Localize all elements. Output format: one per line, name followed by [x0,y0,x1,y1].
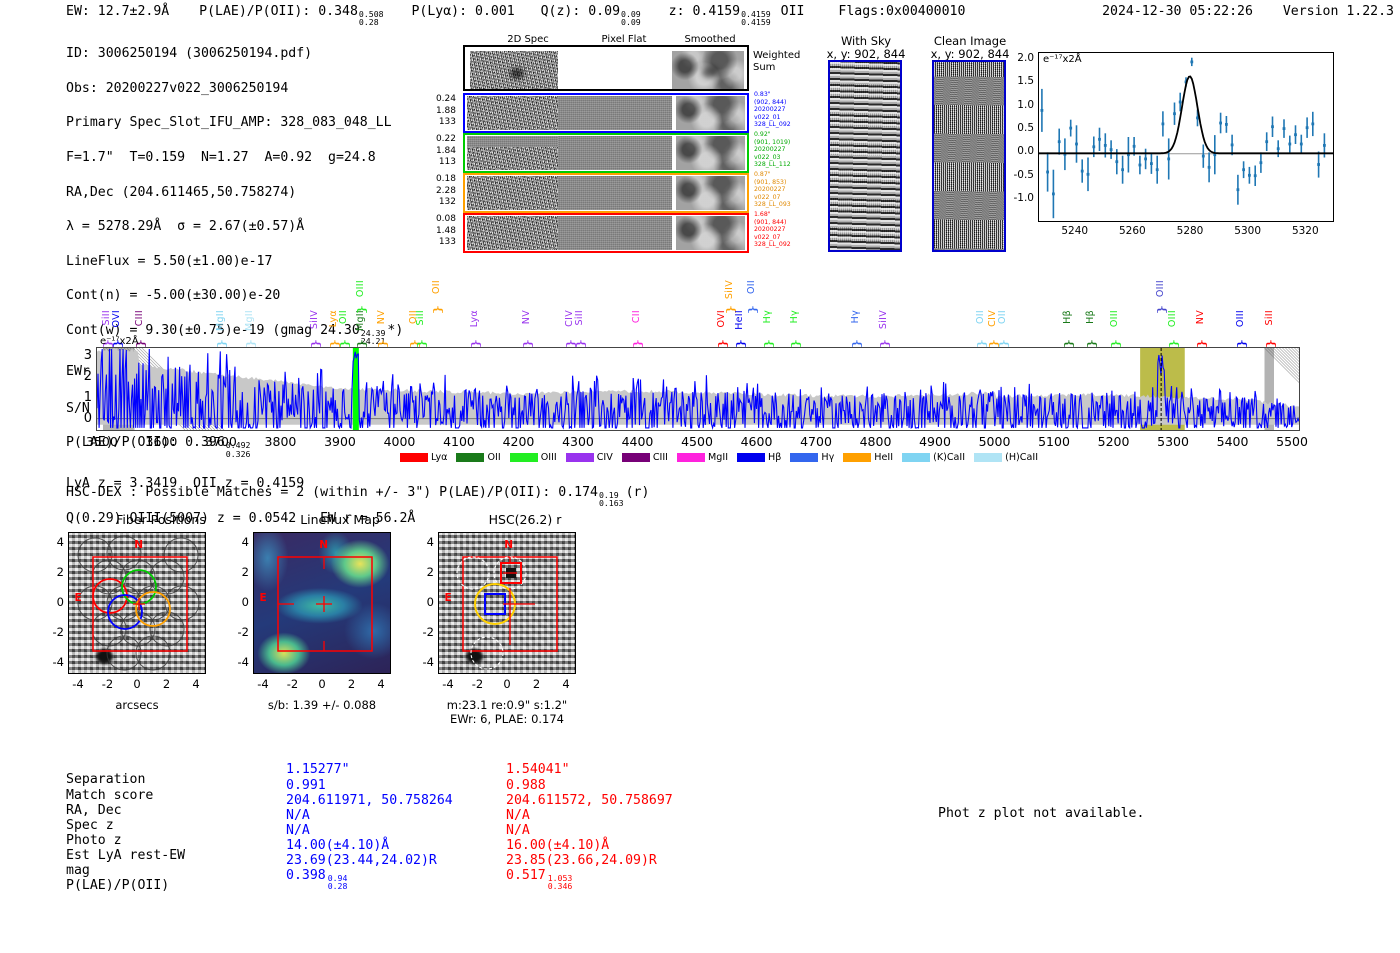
spectrum-line-label: HeII [734,310,745,330]
imaging-ytick: -4 [416,655,434,669]
line-profile-plot[interactable]: e⁻¹⁷x2Å [1038,52,1334,222]
info-obs: Obs: 20200227v022_3006250194 [66,80,415,97]
lineplot-xtick: 5260 [1119,225,1146,237]
spectrum-line-label: SiII [1264,310,1275,325]
spectrum-xtick: 4700 [796,434,836,449]
spectrum-line-label: NV [1195,310,1206,324]
version-label: Version 1.22.3 [1283,4,1394,19]
imaging-xtick: -4 [70,677,86,691]
cutout-image-clean[interactable] [932,60,1006,252]
lineplot-xtick: 5300 [1234,225,1261,237]
imaging-xtick: -2 [470,677,486,691]
spectrum-line-label: MgII [215,310,226,331]
lineplot-ytick: -0.5 [1004,169,1034,181]
info-primary-spec: Primary Spec_Slot_IFU_AMP: 328_083_048_L… [66,114,415,131]
hsc-caption-1: m:23.1 re:0.9" s:1.2" [438,698,576,712]
legend-swatch [456,453,484,462]
header-qz-label: Q(z): 0.09 [541,4,620,19]
match1-score: 0.991 [286,779,326,794]
spectrum-line-label: OIII [1235,310,1246,327]
spectrum-xtick: 5000 [975,434,1015,449]
spectrum-ytick: 0 [72,411,92,426]
col-title-pixelflat: Pixel Flat [576,34,672,45]
legend-swatch [902,453,930,462]
spectrum-line-label: OIII [355,280,366,297]
match1-plae-range: 0.940.28 [328,874,348,891]
legend-label: Hγ [821,452,834,463]
fiber-row-2-2dspec [467,147,558,170]
spectrum-ytick: 3 [72,348,92,363]
fiber-row-3-stats: 0.18 2.28 132 [420,174,456,209]
lineplot-xtick: 5280 [1177,225,1204,237]
spectrum-line-label: Hβ [1085,310,1096,324]
fiber-row-2-2dspec-top [467,136,558,147]
imaging-xtick: 2 [159,677,175,691]
imaging-xtick: 0 [129,677,145,691]
fiber-row-4[interactable] [463,213,749,253]
timestamp: 2024-12-30 05:22:26 [1102,4,1253,19]
row-label-match-score: Match score [66,789,153,804]
fiber-row-2-pixelflat [558,136,672,170]
legend-swatch [790,453,818,462]
legend-swatch [622,453,650,462]
spectrum-xtick: 5200 [1094,434,1134,449]
spectrum-xtick: 5100 [1034,434,1074,449]
row-label-separation: Separation [66,773,145,788]
imaging-xtick: 4 [188,677,204,691]
spectrum-line-label: OVI [111,310,122,328]
spectrum-xtick: 3800 [260,434,300,449]
legend-label: (K)CaII [933,452,965,463]
imaging-ytick: -4 [46,655,64,669]
weighted-sum-pixelflat-blank [558,47,672,89]
compass-east-3: E [444,592,451,604]
header-qz-range: 0.090.09 [621,10,641,27]
fiber-row-2-smoothed [676,136,745,170]
hscdex-match-summary: HSC-DEX : Possible Matches = 2 (within +… [66,485,649,508]
fiber-row-3-2dspec [467,176,558,210]
legend-swatch [677,453,705,462]
legend-swatch [843,453,871,462]
spectrum-line-label: OII [746,280,757,294]
match1-est-ew: 14.00(±4.10)Å [286,839,389,854]
spectrum-line-label: OII [975,310,986,324]
panel-title-hsc: HSC(26.2) r [430,512,620,527]
lineplot-ytick: 0.0 [1004,145,1034,157]
spectrum-line-label: Hβ [1062,310,1073,324]
row-label-spec-z: Spec z [66,819,114,834]
info-lambda-sigma: λ = 5278.29Å σ = 2.67(±0.57)Å [66,218,415,235]
weighted-sum-2dspec-image [470,51,558,89]
legend-swatch [974,453,1002,462]
imaging-ytick: 0 [231,595,249,609]
match1-separation: 1.15277" [286,763,350,778]
spectrum-line-label: SiII [415,310,426,325]
fiber-row-4-2dspec [467,216,558,250]
legend-item: OII [456,452,500,463]
fiber-row-2-info: 0.92" (901, 1019) 20200227 v022_03 328_L… [754,131,791,169]
spectrum-line-label: SiII [574,310,585,325]
spectrum-xtick: 4200 [498,434,538,449]
row-label-radec: RA, Dec [66,804,122,819]
imaging-xtick: -4 [440,677,456,691]
cutout-coords-with-sky: x, y: 902, 844 [820,47,912,61]
header-z-species: OII [781,4,805,19]
info-seeing: F=1.7" T=0.159 N=1.27 A=0.92 g=24.8 [66,149,415,166]
fiber-row-1-stats: 0.24 1.88 133 [420,94,456,129]
imaging-ytick: -2 [416,625,434,639]
hsc-overlay-svg [439,533,576,674]
info-radec: RA,Dec (204.611465,50.758274) [66,184,415,201]
lineflux-overlay-svg [254,533,391,674]
fiber-row-3-smoothed [676,176,745,210]
hsc-image[interactable]: N E [438,532,576,674]
info-lineflux: LineFlux = 5.50(±1.00)e-17 [66,253,415,270]
legend-label: Hβ [768,452,781,463]
full-spectrum-plot[interactable] [96,347,1300,431]
match2-separation: 1.54041" [506,763,570,778]
spectrum-line-label: SiIV [724,280,735,299]
spectrum-line-label: Lyα [469,310,480,327]
spectrum-xtick: 4300 [558,434,598,449]
hscdex-text: HSC-DEX : Possible Matches = 2 (within +… [66,485,598,500]
row-label-photo-z: Photo z [66,834,122,849]
header-flags: Flags:0x00400010 [838,4,965,19]
match1-plae: 0.3980.940.28 [286,869,347,891]
imaging-ytick: 4 [231,535,249,549]
spectrum-line-label: SiIV [878,310,889,329]
cutout-title-with-sky: With Sky [820,34,912,48]
spectrum-xtick: 5500 [1272,434,1312,449]
lineplot-ytick: 2.0 [1004,52,1034,64]
spectrum-line-label: OIII [1155,280,1166,297]
hsc-caption-2: EWr: 6, PLAE: 0.174 [438,712,576,726]
spectrum-xtick: 3600 [141,434,181,449]
imaging-xtick: 0 [314,677,330,691]
match2-plae-range: 1.0530.346 [548,874,573,891]
match2-photo-z: N/A [506,824,530,839]
imaging-xtick: 4 [373,677,389,691]
spectrum-line-label: OII [431,280,442,294]
fiber-overlay-svg [69,533,206,674]
match1-radec: 204.611971, 50.758264 [286,794,453,809]
lineflux-map-caption: s/b: 1.39 +/- 0.088 [253,698,391,712]
spectrum-line-label: OIII [1167,310,1178,327]
compass-east-1: E [74,592,81,604]
match1-spec-z: N/A [286,809,310,824]
lineplot-xtick: 5240 [1061,225,1088,237]
fiber-row-2-stats: 0.22 1.84 113 [420,134,456,169]
imaging-ytick: -4 [231,655,249,669]
compass-north-1: N [134,539,143,551]
header-plae-label: P(LAE)/P(OII): 0.348 [199,4,358,19]
header-plae-range: 0.5080.28 [359,10,384,27]
imaging-ytick: -2 [231,625,249,639]
panel-title-fiber-positions: Fiber Positions [66,512,256,527]
legend-item: HeII [843,452,893,463]
spectrum-line-label: NV [521,310,532,324]
fiber-row-2[interactable] [463,133,749,173]
spectrum-line-label: Hγ [850,310,861,323]
legend-swatch [510,453,538,462]
lineplot-ytick: 0.5 [1004,122,1034,134]
imaging-xtick: -4 [255,677,271,691]
spectrum-line-label: NV [376,310,387,324]
lineplot-units-annotation: e⁻¹⁷x2Å [1043,54,1082,65]
imaging-ytick: 0 [416,595,434,609]
legend-swatch [737,453,765,462]
legend-item: MgII [677,452,728,463]
match2-mag: 23.85(23.66,24.09)R [506,854,657,869]
spectrum-legend: LyαOIIOIIICIVCIIIMgIIHβHγHeII(K)CaII(H)C… [400,452,1038,463]
spectrum-line-brace: } [355,304,368,315]
match2-spec-z: N/A [506,809,530,824]
info-id: ID: 3006250194 (3006250194.pdf) [66,45,415,62]
fiber-row-1-pixelflat [558,96,672,130]
spectrum-line-brace: } [1155,304,1168,315]
imaging-xtick: -2 [285,677,301,691]
cutout-title-clean-image: Clean Image [920,34,1020,48]
match2-plae: 0.5171.0530.346 [506,869,572,891]
spectrum-xtick: 5400 [1213,434,1253,449]
spectrum-line-label: SiIV [309,310,320,329]
hscdex-suffix: (r) [626,485,650,500]
spectrum-line-label: OIII [1109,310,1120,327]
fiber-row-4-stats: 0.08 1.48 133 [420,214,456,249]
match1-mag: 23.69(23.44,24.02)R [286,854,437,869]
fiber-row-1-2dspec [467,96,558,130]
spectrum-line-label: CIV [987,310,998,327]
spectrum-xtick: 5300 [1153,434,1193,449]
fiber-row-4-smoothed [676,216,745,250]
weighted-sum-label: Weighted Sum [753,50,800,74]
spectrum-line-brace: } [746,304,759,315]
spectrum-xtick: 4400 [617,434,657,449]
header-ew: EW: 12.7±2.9Å [66,4,169,19]
legend-item: Hγ [790,452,834,463]
fiber-row-1-info: 0.83" (902, 844) 20200227 v022_01 328_LL… [754,91,791,129]
fiber-row-3-pixelflat [558,176,672,210]
spectrum-line-label: SiII [101,310,112,325]
lineplot-ytick: 1.5 [1004,75,1034,87]
legend-item: CIV [566,452,613,463]
legend-label: MgII [708,452,728,463]
header-z-label: z: 0.4159 [669,4,740,19]
spectrum-units-annotation: e⁻¹⁷x2Å [100,336,139,347]
weighted-sum-smoothed-image [672,51,744,89]
imaging-xtick: 4 [558,677,574,691]
fiber-row-4-info: 1.68" (901, 844) 20200227 v022_07 328_LL… [754,211,791,249]
spectrum-line-label: CII [631,310,642,323]
legend-item: (H)CaII [974,452,1038,463]
imaging-xtick: 2 [344,677,360,691]
legend-item: CIII [622,452,668,463]
col-title-2dspec: 2D Spec [478,34,578,45]
imaging-ytick: 0 [46,595,64,609]
spectrum-line-label: Hγ [789,310,800,323]
full-spectrum-svg [97,348,1299,430]
legend-swatch [400,453,428,462]
cutout-image-with-sky[interactable] [828,60,902,252]
fiber-row-1-smoothed [676,96,745,130]
fiber-positions-image[interactable]: N E [68,532,206,674]
compass-north-2: N [319,539,328,551]
spectrum-xtick: 4100 [439,434,479,449]
spectrum-line-label: CIII [134,310,145,326]
hscdex-plae-range: 0.190.163 [599,491,624,508]
spectrum-line-brace: } [431,304,444,315]
row-label-est-ew: Est LyA rest-EW [66,849,185,864]
legend-swatch [566,453,594,462]
spectrum-line-label: Hγ [762,310,773,323]
spectrum-line-label: MgII [244,310,255,331]
match2-radec: 204.611572, 50.758697 [506,794,673,809]
panel-title-lineflux-map: Lineflux Map [245,512,435,527]
legend-item: OIII [510,452,557,463]
line-profile-svg [1039,53,1333,221]
spectrum-xtick: 3500 [82,434,122,449]
spectrum-xtick: 4000 [379,434,419,449]
legend-label: OIII [541,452,557,463]
legend-label: CIV [597,452,613,463]
fiber-row-1[interactable] [463,93,749,133]
imaging-ytick: 2 [231,565,249,579]
spectrum-xtick: 3900 [320,434,360,449]
legend-item: Hβ [737,452,781,463]
lineplot-xtick: 5320 [1292,225,1319,237]
legend-label: HeII [874,452,893,463]
legend-label: (H)CaII [1005,452,1038,463]
lineplot-ytick: -1.0 [1004,192,1034,204]
imaging-ytick: -2 [46,625,64,639]
lineflux-map-image[interactable]: N E [253,532,391,674]
row-label-mag: mag [66,864,90,879]
fiber-row-3[interactable] [463,173,749,213]
match2-score: 0.988 [506,779,546,794]
imaging-ytick: 4 [46,535,64,549]
legend-label: Lyα [431,452,447,463]
imaging-ytick: 4 [416,535,434,549]
spectrum-xtick: 3700 [201,434,241,449]
header-z-range: 0.41590.4159 [741,10,771,27]
spectrum-xtick: 4500 [677,434,717,449]
spectrum-line-label: OII [997,310,1008,324]
legend-label: CIII [653,452,668,463]
legend-item: Lyα [400,452,447,463]
legend-label: OII [487,452,500,463]
imaging-ytick: 2 [46,565,64,579]
match1-photo-z: N/A [286,824,310,839]
imaging-xtick: -2 [100,677,116,691]
spectrum-xtick: 4600 [737,434,777,449]
spectrum-line-label: OII [338,310,349,324]
imaging-xtick: 0 [499,677,515,691]
spectrum-ytick: 2 [72,369,92,384]
compass-north-3: N [504,539,513,551]
col-title-smoothed: Smoothed [662,34,758,45]
imaging-xtick: 2 [529,677,545,691]
match2-est-ew: 16.00(±4.10)Å [506,839,609,854]
imaging-ytick: 2 [416,565,434,579]
weighted-sum-row [463,45,749,91]
phot-z-note: Phot z plot not available. [938,806,1144,821]
legend-item: (K)CaII [902,452,965,463]
compass-east-2: E [259,592,266,604]
fiber-positions-xlabel: arcsecs [68,698,206,712]
row-label-plae: P(LAE)/P(OII) [66,879,169,894]
spectrum-ytick: 1 [72,390,92,405]
spectrum-xtick: 4900 [915,434,955,449]
lineplot-ytick: 1.0 [1004,99,1034,111]
timestamp-version: 2024-12-30 05:22:26 Version 1.22.3 [1102,4,1394,19]
header-summary-line: EW: 12.7±2.9Å P(LAE)/P(OII): 0.3480.5080… [66,4,965,27]
fiber-row-4-pixelflat [558,216,672,250]
header-plya: P(Lyα): 0.001 [411,4,514,19]
spectrum-xtick: 4800 [856,434,896,449]
fiber-row-3-info: 0.87" (901, 853) 20200227 v022_07 328_LL… [754,171,791,209]
